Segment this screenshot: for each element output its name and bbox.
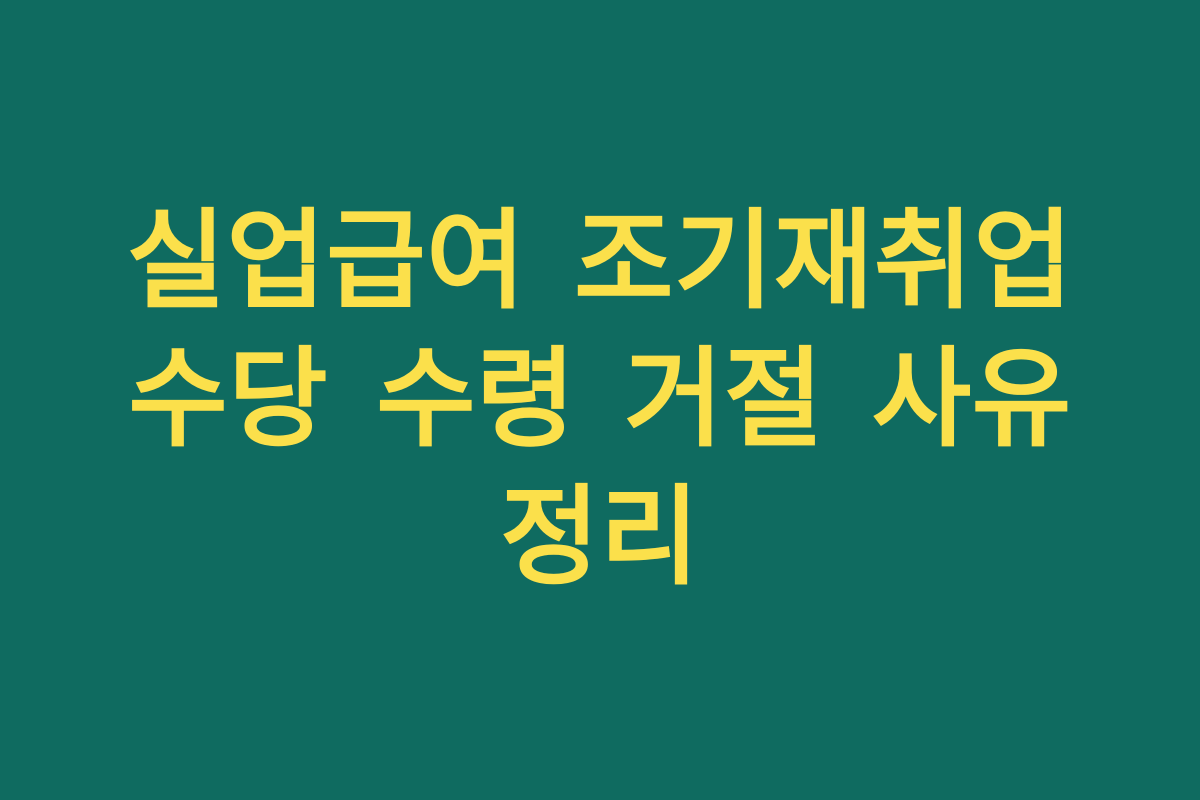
page-title: 실업급여 조기재취업수당 수령 거절 사유 정리 bbox=[110, 193, 1090, 608]
title-card: 실업급여 조기재취업수당 수령 거절 사유 정리 bbox=[0, 0, 1200, 800]
title-block: 실업급여 조기재취업수당 수령 거절 사유 정리 bbox=[100, 193, 1100, 608]
